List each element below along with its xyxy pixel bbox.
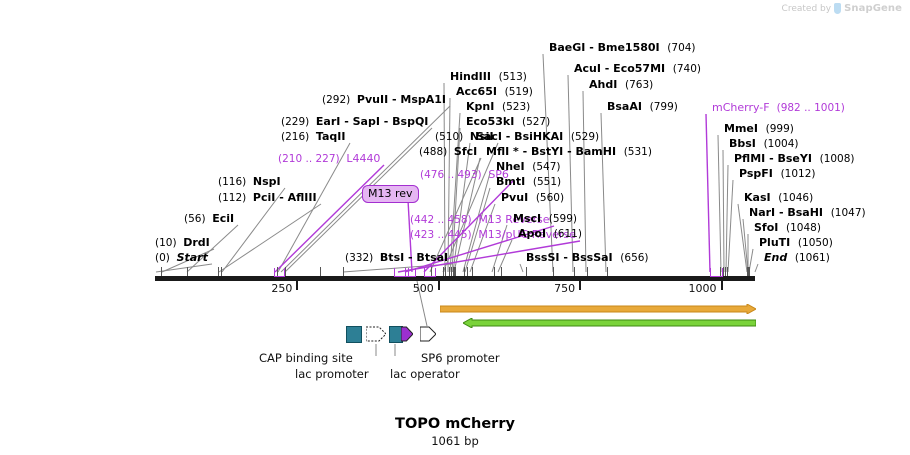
- map-label-kasi[interactable]: KasI (1046): [744, 192, 813, 204]
- map-label-baegi-bme1580i[interactable]: BaeGI - Bme1580I (704): [549, 42, 696, 54]
- ruler-label-750: 750: [554, 282, 575, 295]
- restriction-site-tick: [455, 267, 456, 276]
- label-name: DrdI: [183, 236, 210, 249]
- map-label-pluti[interactable]: PluTI (1050): [759, 237, 833, 249]
- label-position: (56): [184, 213, 212, 225]
- label-position: (442 .. 458): [410, 214, 478, 226]
- restriction-site-tick: [161, 267, 162, 276]
- label-position: (547): [532, 161, 560, 173]
- label-name: KpnI: [466, 100, 502, 113]
- map-label-pvuii-mspa1i[interactable]: (292) PvuII - MspA1I: [322, 94, 446, 106]
- map-label-sfci[interactable]: (488) SfcI: [419, 146, 477, 158]
- label-position: (531): [624, 146, 652, 158]
- label-position: (704): [667, 42, 695, 54]
- label-position: (1008): [820, 153, 855, 165]
- feature-caption-lac-promoter[interactable]: lac promoter: [295, 367, 369, 381]
- map-label-ahdi[interactable]: AhdI (763): [589, 79, 653, 91]
- map-label-taqii[interactable]: (216) TaqII: [281, 131, 346, 143]
- map-label-mfli-bstyi-bamhi[interactable]: MflI * - BstYI - BamHI (531): [486, 146, 652, 158]
- map-label-end[interactable]: End (1061): [764, 252, 830, 264]
- backbone-bar: [155, 276, 755, 281]
- label-name: PvuII - MspA1I: [357, 93, 446, 106]
- label-name: TaqII: [316, 130, 346, 143]
- label-name: PvuI: [501, 191, 536, 204]
- label-name: PciI - AflIII: [253, 191, 317, 204]
- map-label-kpni[interactable]: KpnI (523): [466, 101, 530, 113]
- label-name: NheI: [496, 160, 532, 173]
- restriction-site-tick: [553, 267, 554, 276]
- label-position: (799): [650, 101, 678, 113]
- map-label-btsi-btsai[interactable]: (332) BtsI - BtsaI: [345, 252, 448, 264]
- feature-glyph-sp6-promoter[interactable]: [420, 326, 436, 342]
- restriction-site-tick: [494, 267, 495, 276]
- label-position: (510): [435, 131, 470, 143]
- label-position: (599): [549, 213, 577, 225]
- feature-caption-lac-operator[interactable]: lac operator: [390, 367, 460, 381]
- label-name: Eco53kI: [466, 115, 522, 128]
- label-position: (112): [218, 192, 253, 204]
- map-label-acc65i[interactable]: Acc65I (519): [456, 86, 533, 98]
- label-name: KasI: [744, 191, 778, 204]
- primer-bracket: [405, 268, 416, 277]
- label-position: (1012): [781, 168, 816, 180]
- map-label-saci-bsihkai[interactable]: SacI - BsiHKAI (529): [476, 131, 599, 143]
- ruler-tick: [721, 281, 723, 290]
- label-position: (423 .. 445): [410, 229, 478, 241]
- label-position: (116): [218, 176, 253, 188]
- label-position: (292): [322, 94, 357, 106]
- restriction-site-tick: [526, 267, 527, 276]
- label-name: BssSI - BssSaI: [526, 251, 620, 264]
- map-label-drdi[interactable]: (10) DrdI: [155, 237, 210, 249]
- page-title: TOPO mCherry: [0, 416, 910, 432]
- restriction-site-tick: [467, 267, 468, 276]
- plasmid-map-canvas: Created by SnapGene (292) PvuII - MspA1I…: [0, 0, 910, 455]
- label-name: BtsI - BtsaI: [380, 251, 448, 264]
- restriction-site-tick: [727, 267, 728, 276]
- map-label-pspfi[interactable]: PspFI (1012): [739, 168, 815, 180]
- label-name: MmeI: [724, 122, 766, 135]
- restriction-site-tick: [501, 267, 502, 276]
- map-label-eco53ki[interactable]: Eco53kI (527): [466, 116, 550, 128]
- label-name: End: [764, 251, 795, 264]
- restriction-site-tick: [343, 267, 344, 276]
- ruler-label-500: 500: [413, 282, 434, 295]
- label-position: (1004): [764, 138, 799, 150]
- restriction-site-tick: [464, 267, 465, 276]
- label-position: (656): [620, 252, 648, 264]
- label-position: (527): [522, 116, 550, 128]
- primer-bracket: [274, 268, 286, 277]
- restriction-site-tick: [607, 267, 608, 276]
- label-position: (1046): [778, 192, 813, 204]
- label-name: HindIII: [450, 70, 499, 83]
- label-name: mCherry-F: [712, 101, 777, 114]
- map-label-pcii-afliii[interactable]: (112) PciI - AflIII: [218, 192, 317, 204]
- label-position: (1047): [831, 207, 866, 219]
- label-name: AhdI: [589, 78, 625, 91]
- restriction-site-tick: [221, 267, 222, 276]
- label-position: (1061): [795, 252, 830, 264]
- label-position: (523): [502, 101, 530, 113]
- restriction-site-tick: [725, 267, 726, 276]
- feature-glyph-purple-arrow[interactable]: [401, 326, 413, 342]
- label-name: NspI: [253, 175, 281, 188]
- map-label-bmti[interactable]: BmtI (551): [496, 176, 561, 188]
- primer-chip-m13-rev[interactable]: M13 rev: [362, 185, 419, 203]
- restriction-site-tick: [472, 267, 473, 276]
- label-name: EciI: [212, 212, 234, 225]
- feature-glyph-cap-binding-site[interactable]: [346, 326, 362, 343]
- label-position: (210 .. 227): [278, 153, 346, 165]
- map-label-eari-sapi-bspqi[interactable]: (229) EarI - SapI - BspQI: [281, 116, 428, 128]
- restriction-site-tick: [320, 267, 321, 276]
- primer-bracket: [424, 268, 436, 277]
- map-label-pflmi-bseyi[interactable]: PflMI - BseYI (1008): [734, 153, 855, 165]
- feature-glyph-lac-promoter[interactable]: [366, 326, 386, 342]
- map-label-nspi[interactable]: (116) NspI: [218, 176, 281, 188]
- page-subtitle: 1061 bp: [0, 434, 910, 448]
- translation-arrow-orf-orange[interactable]: [440, 299, 756, 309]
- label-position: (10): [155, 237, 183, 249]
- primer-bracket: [710, 268, 723, 277]
- translation-arrow-orf-green[interactable]: [463, 313, 756, 323]
- label-position: (513): [499, 71, 527, 83]
- label-name: Acc65I: [456, 85, 505, 98]
- feature-caption-cap-binding-site[interactable]: CAP binding site: [259, 351, 353, 365]
- ruler-tick: [438, 281, 440, 290]
- map-label-bbsi[interactable]: BbsI (1004): [729, 138, 798, 150]
- map-label-apoi[interactable]: ApoI (611): [518, 228, 582, 240]
- label-position: (740): [673, 63, 701, 75]
- restriction-site-tick: [218, 267, 219, 276]
- label-name: PluTI: [759, 236, 798, 249]
- ruler-label-1000: 1000: [689, 282, 717, 295]
- ruler-tick: [579, 281, 581, 290]
- label-position: (0): [155, 252, 177, 264]
- label-name: BsaAI: [607, 100, 650, 113]
- map-label-ecii[interactable]: (56) EciI: [184, 213, 234, 225]
- map-label-msci[interactable]: MscI (599): [513, 213, 577, 225]
- restriction-site-tick: [445, 267, 446, 276]
- label-position: (519): [505, 86, 533, 98]
- restriction-site-tick: [449, 267, 450, 276]
- map-label-l4440[interactable]: (210 .. 227) L4440: [278, 153, 380, 165]
- map-label-bsssi-bsssai[interactable]: BssSI - BssSaI (656): [526, 252, 649, 264]
- label-position: (1048): [786, 222, 821, 234]
- restriction-site-tick: [749, 267, 750, 276]
- label-name: ApoI: [518, 227, 554, 240]
- label-name: BmtI: [496, 175, 533, 188]
- map-label-acui-eco57mi[interactable]: AcuI - Eco57MI (740): [574, 63, 701, 75]
- map-label-mmei[interactable]: MmeI (999): [724, 123, 794, 135]
- label-name: SfcI: [454, 145, 477, 158]
- label-position: (982 .. 1001): [777, 102, 845, 114]
- map-label-bsaai[interactable]: BsaAI (799): [607, 101, 678, 113]
- label-name: Start: [177, 251, 208, 264]
- label-position: (763): [625, 79, 653, 91]
- label-name: NarI - BsaHI: [749, 206, 831, 219]
- feature-caption-sp6-promoter[interactable]: SP6 promoter: [421, 351, 500, 365]
- map-label-nari-bsahi[interactable]: NarI - BsaHI (1047): [749, 207, 866, 219]
- ruler-label-250: 250: [271, 282, 292, 295]
- map-label-nhei[interactable]: NheI (547): [496, 161, 560, 173]
- restriction-site-tick: [574, 267, 575, 276]
- map-label-mcherry-f[interactable]: mCherry-F (982 .. 1001): [712, 102, 845, 114]
- label-name: PflMI - BseYI: [734, 152, 820, 165]
- map-label-start[interactable]: (0) Start: [155, 252, 208, 264]
- label-name: AcuI - Eco57MI: [574, 62, 673, 75]
- label-name: SfoI: [754, 221, 786, 234]
- label-name: MflI * - BstYI - BamHI: [486, 145, 624, 158]
- label-name: MscI: [513, 212, 549, 225]
- label-position: (476 .. 493): [420, 169, 488, 181]
- map-label-pvui[interactable]: PvuI (560): [501, 192, 564, 204]
- label-name: EarI - SapI - BspQI: [316, 115, 428, 128]
- map-label-sfoi[interactable]: SfoI (1048): [754, 222, 821, 234]
- label-name: BbsI: [729, 137, 764, 150]
- label-name: L4440: [346, 152, 380, 165]
- label-position: (551): [533, 176, 561, 188]
- label-position: (999): [766, 123, 794, 135]
- label-position: (529): [571, 131, 599, 143]
- restriction-site-tick: [451, 267, 452, 276]
- map-label-hindiii[interactable]: HindIII (513): [450, 71, 527, 83]
- restriction-site-tick: [587, 267, 588, 276]
- label-position: (488): [419, 146, 454, 158]
- label-position: (1050): [798, 237, 833, 249]
- label-position: (332): [345, 252, 380, 264]
- label-name: SacI - BsiHKAI: [476, 130, 571, 143]
- label-name: BaeGI - Bme1580I: [549, 41, 667, 54]
- label-position: (560): [536, 192, 564, 204]
- label-position: (216): [281, 131, 316, 143]
- label-name: PspFI: [739, 167, 781, 180]
- label-position: (611): [554, 228, 582, 240]
- ruler-tick: [296, 281, 298, 290]
- restriction-site-tick: [187, 267, 188, 276]
- label-position: (229): [281, 116, 316, 128]
